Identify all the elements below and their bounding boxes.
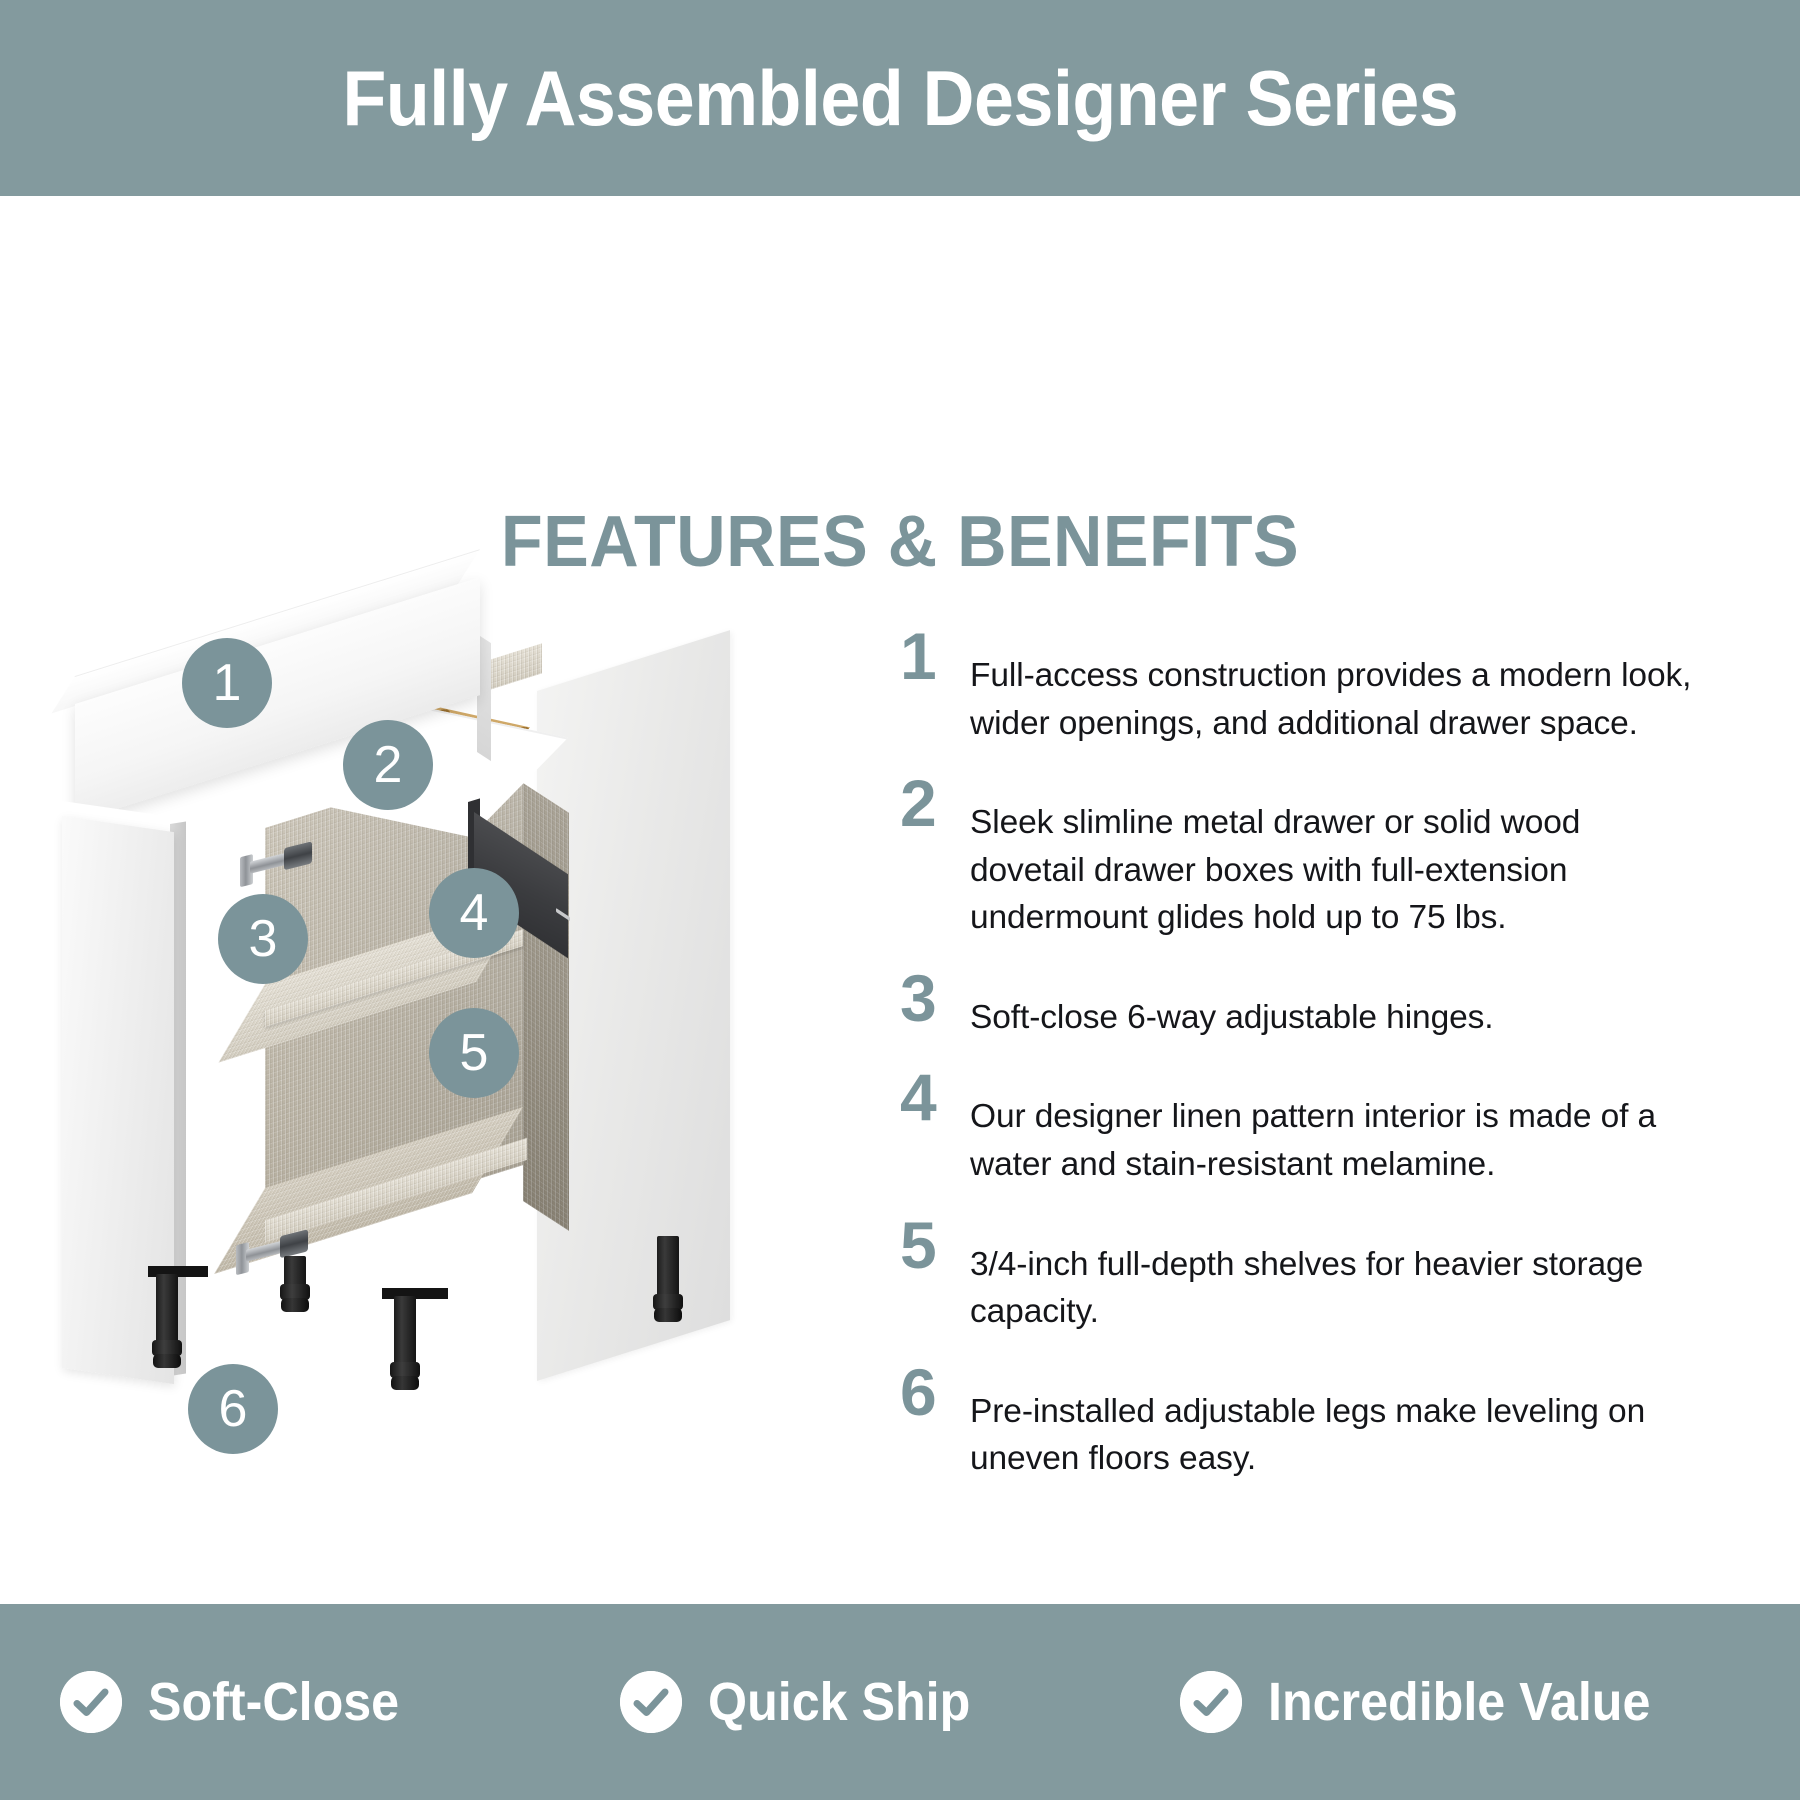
- feature-number: 4: [900, 1067, 970, 1128]
- feature-text: Pre-installed adjustable legs make level…: [970, 1362, 1700, 1483]
- feature-number: 2: [900, 773, 970, 834]
- check-circle-icon: [60, 1671, 122, 1733]
- leg-foot: [654, 1308, 682, 1322]
- callout-badge-1[interactable]: 1: [182, 638, 272, 728]
- footer-badge-label: Incredible Value: [1268, 1675, 1650, 1729]
- leg-foot: [391, 1376, 419, 1390]
- feature-text: Soft-close 6-way adjustable hinges.: [970, 968, 1700, 1042]
- feature-text: Our designer linen pattern interior is m…: [970, 1067, 1700, 1188]
- feature-number: 1: [900, 626, 970, 687]
- callout-badge-4[interactable]: 4: [429, 868, 519, 958]
- infographic-page: Fully Assembled Designer Series FEATURES…: [0, 0, 1800, 1800]
- page-title: Fully Assembled Designer Series: [342, 59, 1458, 137]
- callout-badge-3[interactable]: 3: [218, 894, 308, 984]
- product-illustration: 1 2 3 4 5 6: [40, 616, 820, 1516]
- check-circle-icon: [1180, 1671, 1242, 1733]
- feature-item: 4 Our designer linen pattern interior is…: [900, 1067, 1700, 1188]
- footer-badge-soft-close: Soft-Close: [60, 1671, 620, 1733]
- feature-item: 3 Soft-close 6-way adjustable hinges.: [900, 968, 1700, 1042]
- feature-item: 1 Full-access construction provides a mo…: [900, 626, 1700, 747]
- footer-badge-incredible-value: Incredible Value: [1180, 1671, 1740, 1733]
- feature-number: 5: [900, 1215, 970, 1276]
- leg-post: [657, 1236, 679, 1300]
- feature-item: 6 Pre-installed adjustable legs make lev…: [900, 1362, 1700, 1483]
- callout-badge-5[interactable]: 5: [429, 1008, 519, 1098]
- footer-badge-label: Soft-Close: [148, 1675, 399, 1729]
- check-circle-icon: [620, 1671, 682, 1733]
- hinge-cup: [280, 1229, 308, 1258]
- feature-text: 3/4-inch full-depth shelves for heavier …: [970, 1215, 1700, 1336]
- callout-badge-2[interactable]: 2: [343, 720, 433, 810]
- features-list: 1 Full-access construction provides a mo…: [900, 626, 1700, 1509]
- footer-badge-quick-ship: Quick Ship: [620, 1671, 1180, 1733]
- section-heading: FEATURES & BENEFITS: [45, 506, 1755, 578]
- feature-text: Full-access construction provides a mode…: [970, 626, 1700, 747]
- leg-post: [156, 1274, 178, 1346]
- leg-foot: [281, 1298, 309, 1312]
- feature-number: 6: [900, 1362, 970, 1423]
- leg-post: [394, 1296, 416, 1368]
- feature-text: Sleek slimline metal drawer or solid woo…: [970, 773, 1700, 942]
- footer-bar: Soft-Close Quick Ship Incredible Value: [0, 1604, 1800, 1800]
- header-bar: Fully Assembled Designer Series: [0, 0, 1800, 196]
- feature-number: 3: [900, 968, 970, 1029]
- callout-badge-6[interactable]: 6: [188, 1364, 278, 1454]
- hinge-cup: [284, 841, 312, 870]
- feature-item: 5 3/4-inch full-depth shelves for heavie…: [900, 1215, 1700, 1336]
- leg-foot: [153, 1354, 181, 1368]
- main-content: FEATURES & BENEFITS: [0, 196, 1800, 1604]
- footer-badge-label: Quick Ship: [708, 1675, 970, 1729]
- feature-item: 2 Sleek slimline metal drawer or solid w…: [900, 773, 1700, 942]
